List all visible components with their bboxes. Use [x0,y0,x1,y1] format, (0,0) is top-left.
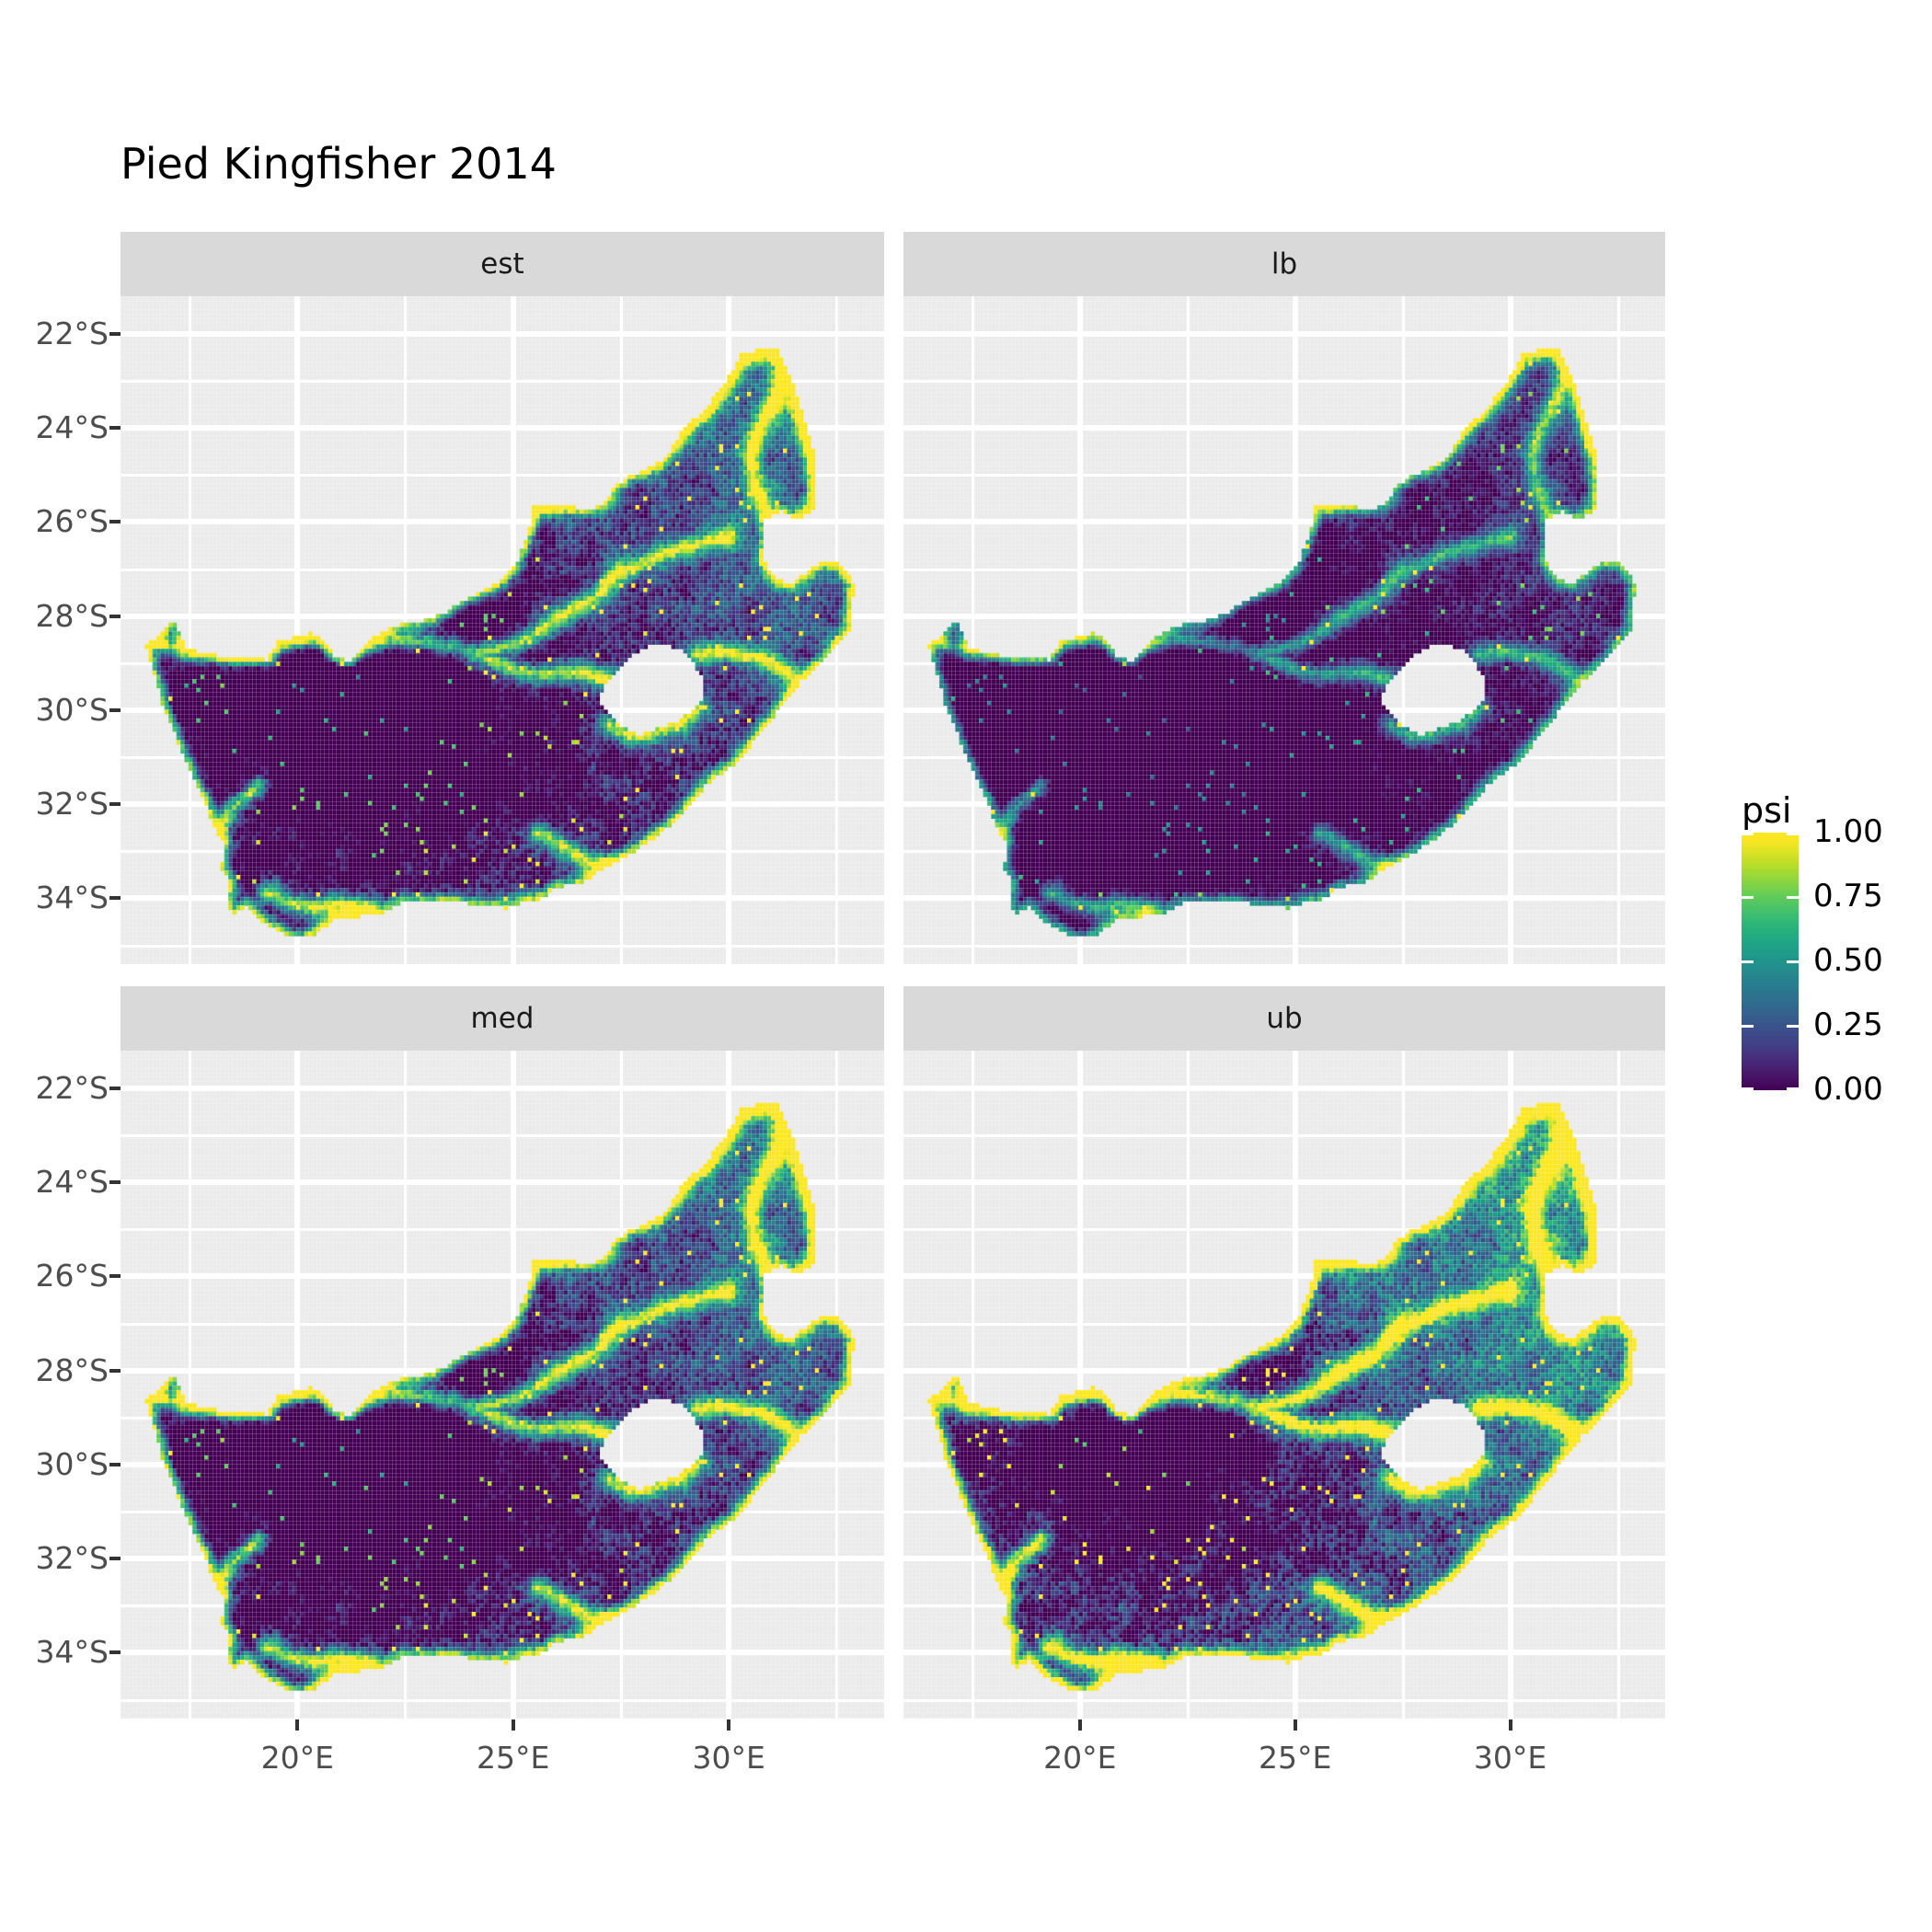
legend-label: 1.00 [1813,816,1883,847]
legend-tick-mark [1742,833,1754,835]
raster-map-lb [903,296,1665,964]
legend-tick-mark [1787,1025,1799,1028]
y-axis-tick-label: 28°S [36,601,109,631]
x-axis-tick-mark [727,1719,730,1731]
y-axis-tick-label: 32°S [36,788,109,819]
legend-tick-mark [1742,896,1754,899]
y-axis-tick-mark [109,426,121,430]
legend-title: psi [1742,793,1791,828]
legend-tick-mark [1742,1025,1754,1028]
legend-tick-mark [1787,1087,1799,1090]
y-axis-tick-mark [109,1557,121,1560]
legend-label: 0.00 [1813,1074,1883,1105]
legend-label: 0.50 [1813,945,1883,976]
legend-label: 0.75 [1813,880,1883,912]
facet-panel-lb[interactable] [903,296,1665,964]
y-axis-tick-mark [109,708,121,712]
facet-strip-label: med [471,1002,535,1035]
y-axis-tick-label: 22°S [36,318,109,349]
legend-tick-mark [1787,960,1799,963]
facet-strip-label: lb [1271,247,1297,281]
x-axis-tick-mark [1509,1719,1512,1731]
y-axis-tick-mark [109,1463,121,1466]
y-axis-tick-mark [109,1180,121,1184]
figure-root: Pied Kingfisher 2014 estlbmedub 22°S24°S… [0,0,1932,1932]
x-axis-tick-label: 30°E [655,1742,802,1773]
facet-panel-med[interactable] [121,1051,884,1719]
legend-tick-mark [1742,960,1754,963]
y-axis-tick-label: 30°S [36,695,109,725]
y-axis-tick-label: 24°S [36,1167,109,1197]
facet-strip-label: est [480,247,523,281]
y-axis-tick-label: 26°S [36,506,109,536]
legend-tick-mark [1787,833,1799,835]
y-axis-tick-label: 26°S [36,1260,109,1291]
y-axis-tick-label: 34°S [36,1637,109,1667]
raster-map-med [121,1051,884,1719]
raster-map-ub [903,1051,1665,1719]
y-axis-tick-label: 22°S [36,1073,109,1103]
y-axis-tick-mark [109,332,121,336]
x-axis-tick-label: 25°E [440,1742,587,1773]
y-axis-tick-mark [109,896,121,900]
y-axis-tick-mark [109,1650,121,1654]
y-axis-tick-mark [109,615,121,618]
y-axis-tick-label: 30°S [36,1449,109,1479]
legend-tick-mark [1787,896,1799,899]
y-axis-tick-mark [109,1087,121,1090]
y-axis-tick-label: 28°S [36,1355,109,1386]
x-axis-tick-mark [295,1719,299,1731]
y-axis-tick-label: 24°S [36,412,109,443]
x-axis-tick-mark [1078,1719,1082,1731]
facet-strip-med: med [121,986,884,1051]
y-axis-tick-label: 32°S [36,1543,109,1573]
y-axis-tick-label: 34°S [36,882,109,913]
facet-strip-est: est [121,232,884,296]
x-axis-tick-mark [512,1719,515,1731]
facet-strip-ub: ub [903,986,1665,1051]
y-axis-tick-mark [109,1369,121,1373]
facet-panel-ub[interactable] [903,1051,1665,1719]
page-title: Pied Kingfisher 2014 [121,143,557,185]
facet-strip-lb: lb [903,232,1665,296]
x-axis-tick-label: 20°E [1006,1742,1154,1773]
legend-label: 0.25 [1813,1009,1883,1041]
y-axis-tick-mark [109,1274,121,1278]
facet-panel-est[interactable] [121,296,884,964]
raster-map-est [121,296,884,964]
x-axis-tick-label: 20°E [224,1742,371,1773]
y-axis-tick-mark [109,520,121,523]
facet-strip-label: ub [1266,1002,1302,1035]
legend-tick-mark [1742,1087,1754,1090]
x-axis-tick-label: 25°E [1222,1742,1369,1773]
x-axis-tick-label: 30°E [1437,1742,1584,1773]
x-axis-tick-mark [1294,1719,1297,1731]
y-axis-tick-mark [109,802,121,806]
